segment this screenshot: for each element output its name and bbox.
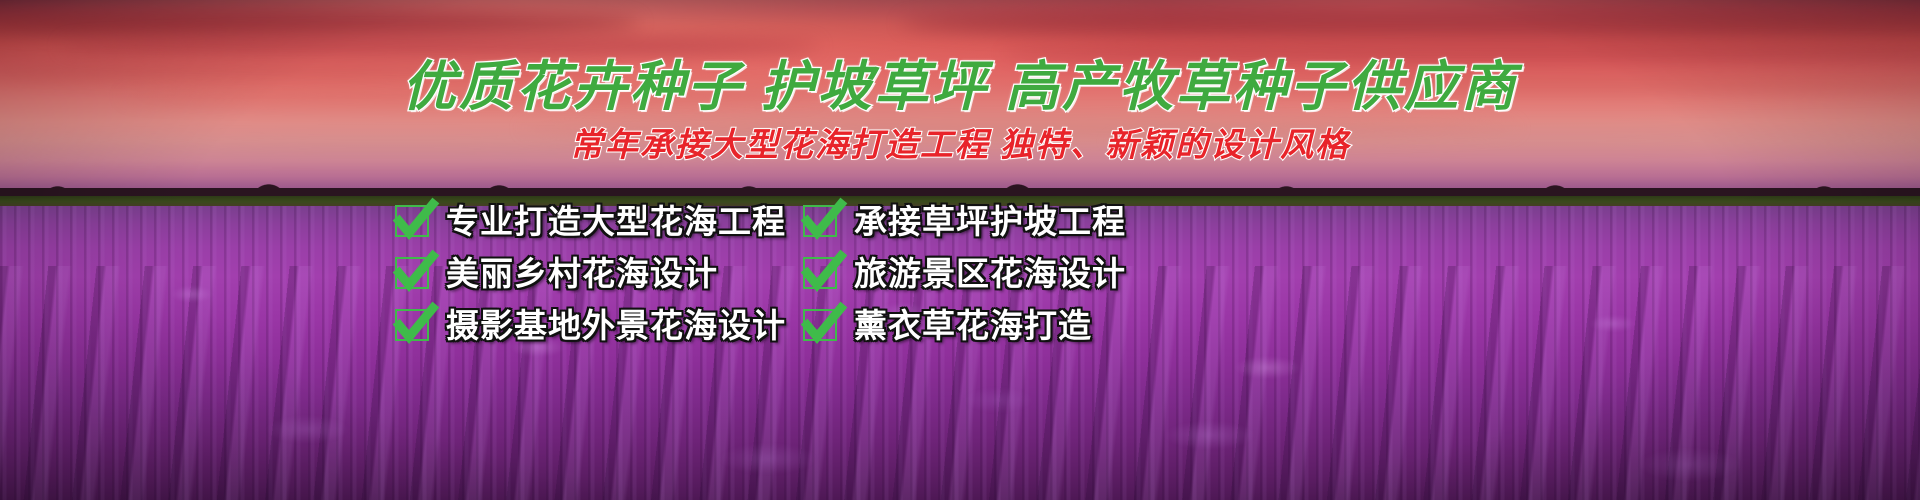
- feature-item: 专业打造大型花海工程: [392, 196, 800, 246]
- checkbox-check-icon: [800, 199, 844, 243]
- feature-item: 美丽乡村花海设计: [392, 248, 800, 298]
- feature-label: 摄影基地外景花海设计: [446, 309, 786, 342]
- hero-banner: 优质花卉种子 护坡草坪 高产牧草种子供应商 常年承接大型花海打造工程 独特、新颖…: [0, 0, 1920, 500]
- feature-checklist: 专业打造大型花海工程 承接草坪护坡工程 美丽乡村花海: [392, 196, 1172, 350]
- feature-label: 薰衣草花海打造: [854, 309, 1092, 342]
- banner-headline: 优质花卉种子 护坡草坪 高产牧草种子供应商: [0, 42, 1920, 121]
- feature-item: 旅游景区花海设计: [800, 248, 1172, 298]
- feature-label: 旅游景区花海设计: [854, 257, 1126, 290]
- feature-label: 美丽乡村花海设计: [446, 257, 718, 290]
- checkbox-check-icon: [392, 251, 436, 295]
- feature-item: 薰衣草花海打造: [800, 300, 1172, 350]
- checkbox-check-icon: [800, 303, 844, 347]
- checkbox-check-icon: [800, 251, 844, 295]
- feature-label: 专业打造大型花海工程: [446, 205, 786, 238]
- checkbox-check-icon: [392, 199, 436, 243]
- feature-label: 承接草坪护坡工程: [854, 205, 1126, 238]
- feature-item: 摄影基地外景花海设计: [392, 300, 800, 350]
- feature-item: 承接草坪护坡工程: [800, 196, 1172, 246]
- banner-content: 优质花卉种子 护坡草坪 高产牧草种子供应商 常年承接大型花海打造工程 独特、新颖…: [0, 0, 1920, 500]
- banner-subheadline: 常年承接大型花海打造工程 独特、新颖的设计风格: [0, 118, 1920, 166]
- checkbox-check-icon: [392, 303, 436, 347]
